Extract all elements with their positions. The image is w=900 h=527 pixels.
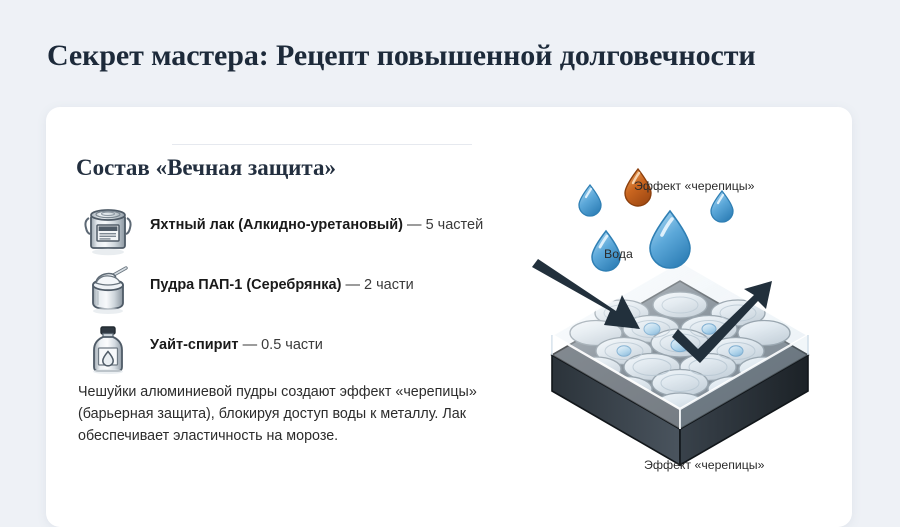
ingredient-amount: 0.5 части xyxy=(261,337,323,353)
ingredient-row: Пудра ПАП-1 (Серебрянка) — 2 части xyxy=(74,259,544,319)
ingredient-text: Яхтный лак (Алкидно-уретановый) — 5 част… xyxy=(150,217,483,233)
ingredient-amount: 2 части xyxy=(364,277,414,293)
ingredient-list: Яхтный лак (Алкидно-уретановый) — 5 част… xyxy=(74,199,544,379)
description-text: Чешуйки алюминиевой пудры создают эффект… xyxy=(78,381,523,447)
solvent-bottle-icon xyxy=(80,321,136,377)
ingredient-text: Пудра ПАП-1 (Серебрянка) — 2 части xyxy=(150,277,414,293)
ingredient-dash: — xyxy=(239,337,262,353)
ingredient-name: Яхтный лак (Алкидно-уретановый) xyxy=(150,217,403,233)
ingredient-dash: — xyxy=(341,277,364,293)
recipe-card: Состав «Вечная защита» xyxy=(46,107,852,527)
ingredient-dash: — xyxy=(403,217,426,233)
diagram-label-water: Вода xyxy=(604,247,633,261)
diagram-label-bottom: Эффект «черепицы» xyxy=(644,458,765,472)
powder-jar-icon xyxy=(80,261,136,317)
ingredient-row: Уайт-спирит — 0.5 части xyxy=(74,319,544,379)
page-root: Секрет мастера: Рецепт повышенной долгов… xyxy=(0,0,900,502)
section-divider xyxy=(172,144,472,145)
paint-can-icon xyxy=(80,201,136,257)
diagram-label-top: Эффект «черепицы» xyxy=(634,179,755,193)
page-title: Секрет мастера: Рецепт повышенной долгов… xyxy=(47,39,857,73)
ingredient-text: Уайт-спирит — 0.5 части xyxy=(150,337,323,353)
shingle-effect-diagram: Эффект «черепицы» Вода Эффект «черепицы» xyxy=(512,143,848,515)
ingredient-name: Пудра ПАП-1 (Серебрянка) xyxy=(150,277,341,293)
section-title: Состав «Вечная защита» xyxy=(76,155,336,181)
ingredient-amount: 5 частей xyxy=(426,217,484,233)
ingredient-row: Яхтный лак (Алкидно-уретановый) — 5 част… xyxy=(74,199,544,259)
ingredient-name: Уайт-спирит xyxy=(150,337,239,353)
